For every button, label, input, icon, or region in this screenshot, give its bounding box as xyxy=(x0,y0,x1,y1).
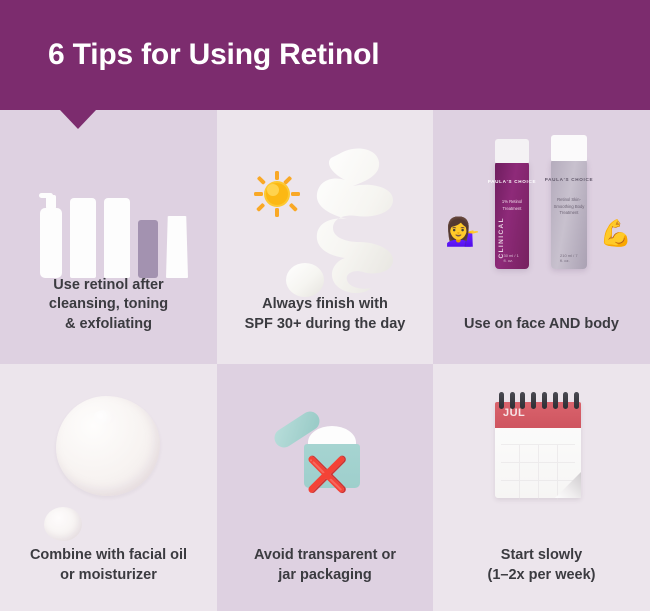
page-title: 6 Tips for Using Retinol xyxy=(48,38,379,72)
jar-cream-icon xyxy=(308,426,356,448)
large-oil-droplet-icon xyxy=(56,396,160,496)
spiral-ring xyxy=(510,392,515,409)
bottle-size-label: 30 ml / 1 fl. oz. xyxy=(504,253,521,263)
jar-body-icon xyxy=(304,444,360,488)
caption-line: (1–2x per week) xyxy=(443,566,640,585)
header-notch-pointer xyxy=(60,110,96,129)
purple-bottle-icon xyxy=(138,220,158,278)
spiral-ring xyxy=(553,392,558,409)
caption-line: Always finish with xyxy=(227,295,423,314)
spiral-ring xyxy=(520,392,525,409)
cross-mark-emoji-icon: ❌ xyxy=(306,458,348,492)
spiral-ring xyxy=(542,392,547,409)
caption-line: Start slowly xyxy=(443,546,640,565)
bottle-cap xyxy=(495,139,529,163)
tip-card-2[interactable]: Always finish with SPF 30+ during the da… xyxy=(217,110,433,364)
caption-line: Use retinol after xyxy=(10,276,207,295)
caption-line: & exfoliating xyxy=(10,315,207,334)
tip-caption-6: Start slowly (1–2x per week) xyxy=(433,546,650,611)
tip-card-5[interactable]: ❌ Avoid transparent or jar packaging xyxy=(217,364,433,611)
header-banner: 6 Tips for Using Retinol xyxy=(0,0,650,110)
calendar-grid-lines xyxy=(501,444,575,500)
calendar-header: JUL xyxy=(495,402,581,428)
tip-caption-1: Use retinol after cleansing, toning & ex… xyxy=(0,276,217,364)
jar-lid-icon xyxy=(271,408,323,451)
tip-caption-3: Use on face AND body xyxy=(433,315,650,364)
bottle-brand-label: PAULA'S CHOICE xyxy=(545,177,594,184)
flexed-biceps-emoji-icon: 💪 xyxy=(600,220,632,246)
pump-bottle-icon xyxy=(40,208,62,278)
tip-card-1[interactable]: Use retinol after cleansing, toning & ex… xyxy=(0,110,217,364)
caption-line: or moisturizer xyxy=(10,566,207,585)
white-bottle-icon-1 xyxy=(70,198,96,278)
cream-swirl xyxy=(267,138,433,313)
calendar-page-fold xyxy=(555,472,581,498)
sun-icon xyxy=(253,170,301,218)
spiral-ring xyxy=(574,392,579,409)
tube-icon xyxy=(166,216,188,278)
spiral-ring xyxy=(499,392,504,409)
caption-line: jar packaging xyxy=(227,566,423,585)
calendar-icon: JUL xyxy=(495,392,585,502)
bottle-brand-label: PAULA'S CHOICE xyxy=(488,179,537,186)
sun-glyph xyxy=(253,170,301,218)
tip-card-3[interactable]: 💁‍♀️ 💪 CLINICAL PAULA'S CHOICE 1% Retino… xyxy=(433,110,650,364)
bottle-vertical-label: CLINICAL xyxy=(498,217,505,259)
caption-line: Combine with facial oil xyxy=(10,546,207,565)
bottle-group xyxy=(40,198,188,278)
calendar-spiral-rings xyxy=(499,392,579,410)
caption-line: SPF 30+ during the day xyxy=(227,315,423,334)
tip-card-6[interactable]: JUL Start slowly (1–2x p xyxy=(433,364,650,611)
tip-card-4[interactable]: Combine with facial oil or moisturizer xyxy=(0,364,217,611)
tip-caption-4: Combine with facial oil or moisturizer xyxy=(0,546,217,611)
calendar-month-label: JUL xyxy=(503,407,525,419)
bottle-size-label: 210 ml / 7 fl. oz. xyxy=(560,253,578,263)
bottle-cap xyxy=(551,135,587,161)
spiral-ring xyxy=(531,392,536,409)
bottle-product-label: 1% Retinol Treatment xyxy=(497,199,528,212)
caption-line: Use on face AND body xyxy=(443,315,640,334)
woman-emoji-icon: 💁‍♀️ xyxy=(445,218,480,246)
cream-swirl-shape xyxy=(267,138,433,313)
body-treatment-bottle: PAULA'S CHOICE Retinol Skin-Smoothing Bo… xyxy=(551,159,587,269)
retinol-tips-infographic: 6 Tips for Using Retinol Use retinol aft… xyxy=(0,0,650,611)
white-bottle-icon-2 xyxy=(104,198,130,278)
retinol-treatment-bottle: CLINICAL PAULA'S CHOICE 1% Retinol Treat… xyxy=(495,161,529,269)
tip-caption-2: Always finish with SPF 30+ during the da… xyxy=(217,295,433,364)
bottle-product-label: Retinol Skin-Smoothing Body Treatment xyxy=(553,197,585,217)
caption-line: cleansing, toning xyxy=(10,295,207,314)
tips-grid: Use retinol after cleansing, toning & ex… xyxy=(0,110,650,611)
tip-caption-5: Avoid transparent or jar packaging xyxy=(217,546,433,611)
spiral-ring xyxy=(563,392,568,409)
caption-line: Avoid transparent or xyxy=(227,546,423,565)
open-jar-icon: ❌ xyxy=(272,402,382,507)
calendar-page xyxy=(495,402,581,498)
small-oil-droplet-icon xyxy=(44,507,82,541)
